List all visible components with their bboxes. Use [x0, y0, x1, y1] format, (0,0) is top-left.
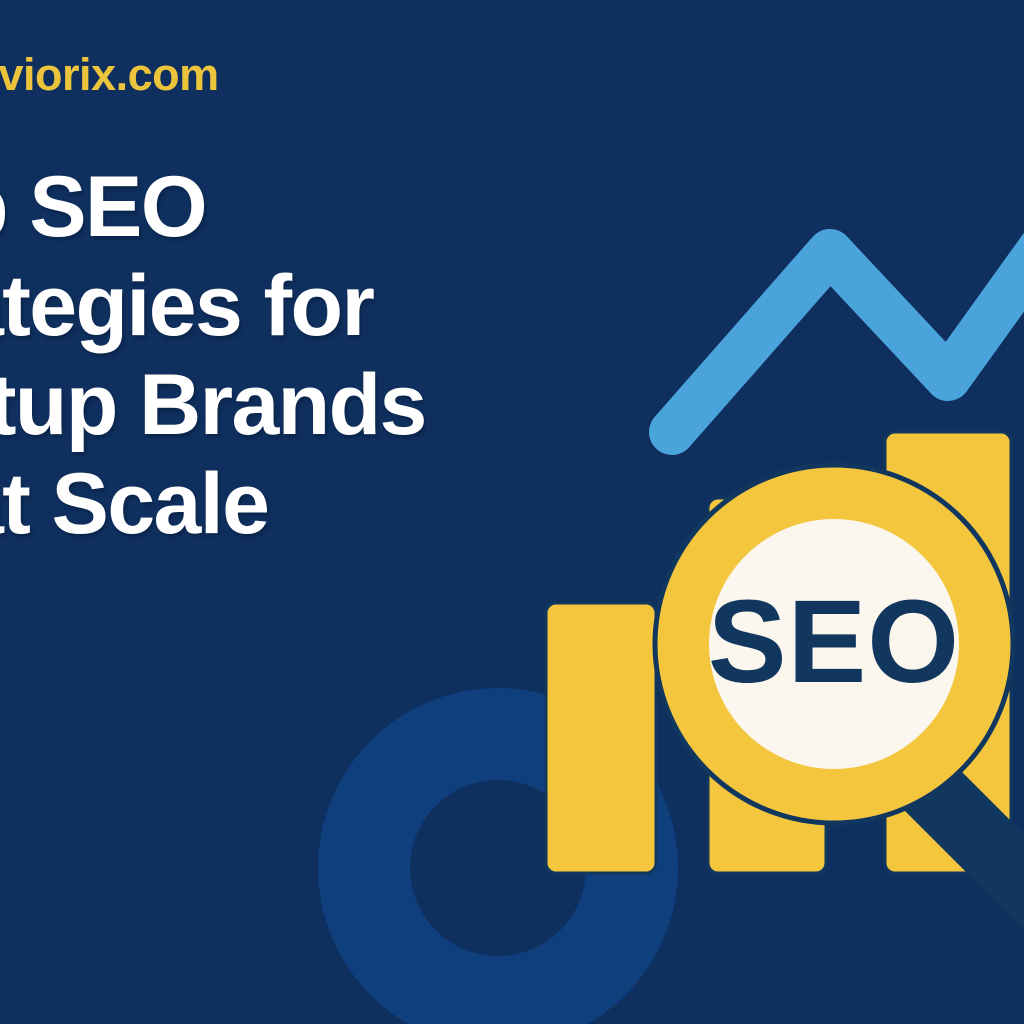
headline-line-2: ategies for [0, 257, 656, 356]
headline-line-1: p SEO [0, 158, 656, 257]
bar-1 [546, 603, 656, 873]
trend-line-icon [672, 222, 1024, 432]
magnifier-lens [709, 519, 959, 769]
brand-name: alviorix.com [0, 52, 219, 97]
brand-logo[interactable]: alviorix.com [0, 52, 219, 97]
headline-line-3: rtup Brands [0, 356, 656, 455]
headline-line-4: at Scale [0, 455, 656, 554]
poster-canvas: alviorix.com p SEO ategies for rtup Bran… [0, 0, 1024, 1024]
page-title: p SEO ategies for rtup Brands at Scale [0, 158, 656, 554]
